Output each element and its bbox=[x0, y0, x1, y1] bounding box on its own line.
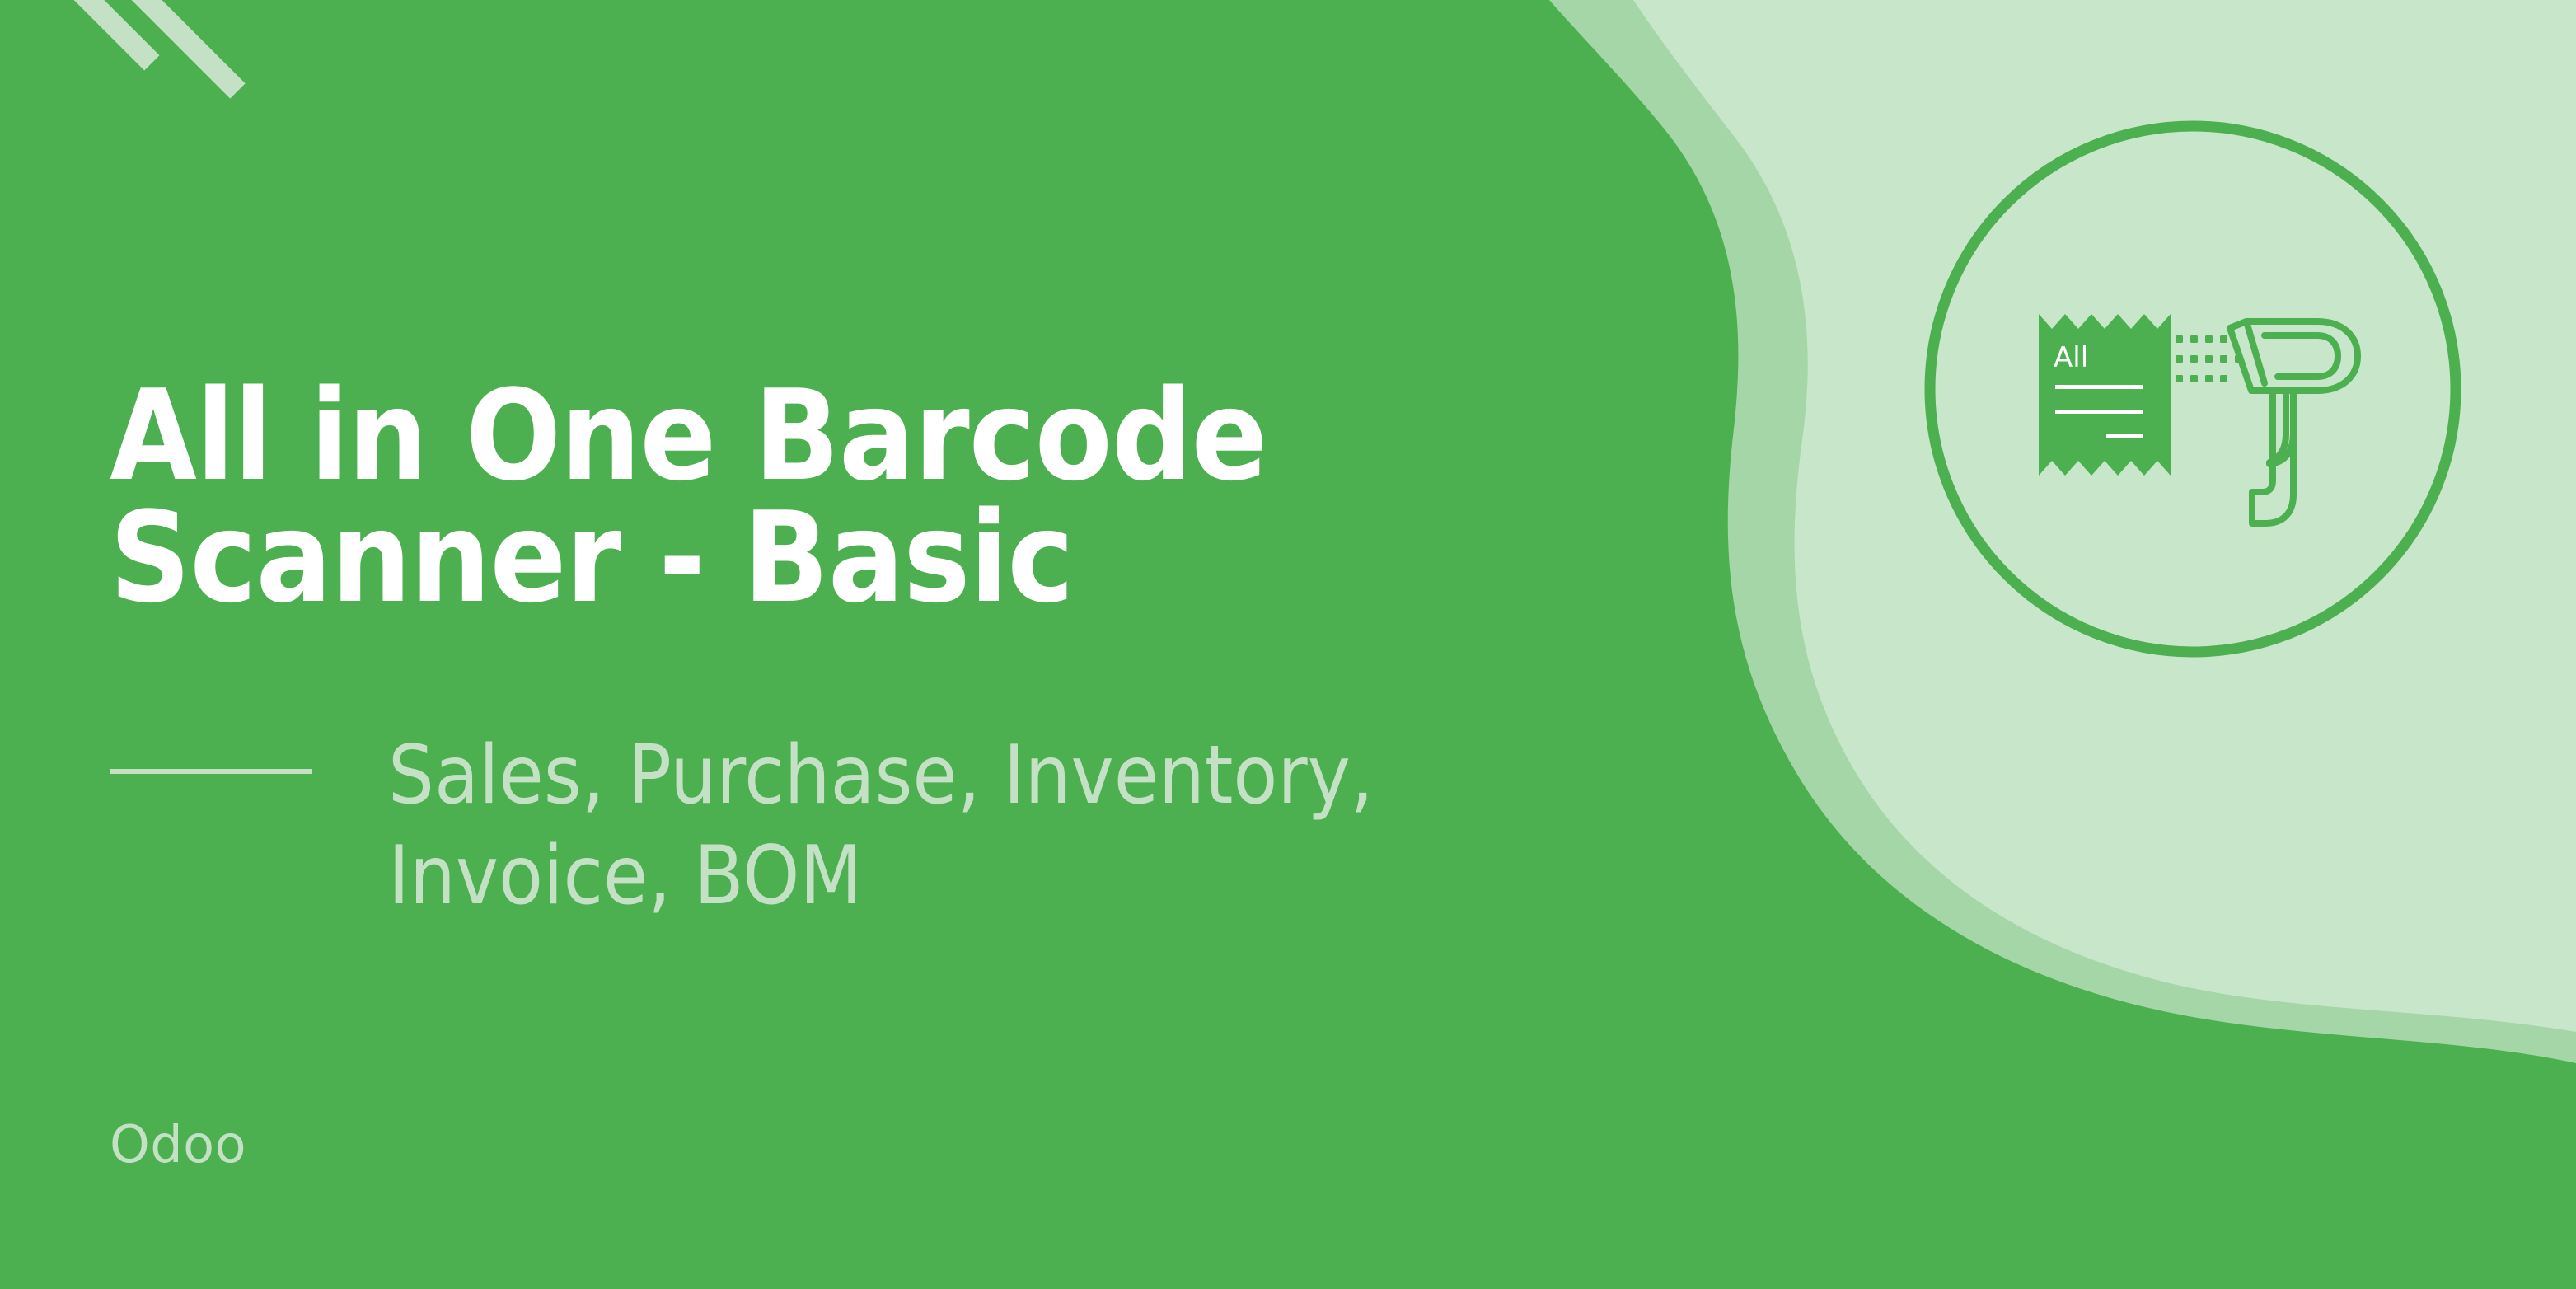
page-subtitle: Sales, Purchase, Inventory, Invoice, BOM bbox=[388, 725, 1374, 926]
app-banner: All in One Barcode Scanner - Basic Sales… bbox=[0, 0, 2576, 1289]
badge-ring bbox=[1930, 126, 2456, 652]
barcode-scanner-gun-icon bbox=[2230, 321, 2358, 523]
subtitle-rule bbox=[110, 769, 312, 774]
banner-text-column: All in One Barcode Scanner - Basic Sales… bbox=[110, 0, 1675, 1289]
receipt-label: All bbox=[2054, 341, 2088, 374]
brand-label: Odoo bbox=[110, 1119, 246, 1170]
subtitle-row: Sales, Purchase, Inventory, Invoice, BOM bbox=[110, 725, 1374, 926]
receipt-icon: All bbox=[2039, 314, 2171, 476]
page-title: All in One Barcode Scanner - Basic bbox=[110, 375, 1267, 619]
barcode-scanner-receipt-icon: All bbox=[1923, 120, 2462, 659]
